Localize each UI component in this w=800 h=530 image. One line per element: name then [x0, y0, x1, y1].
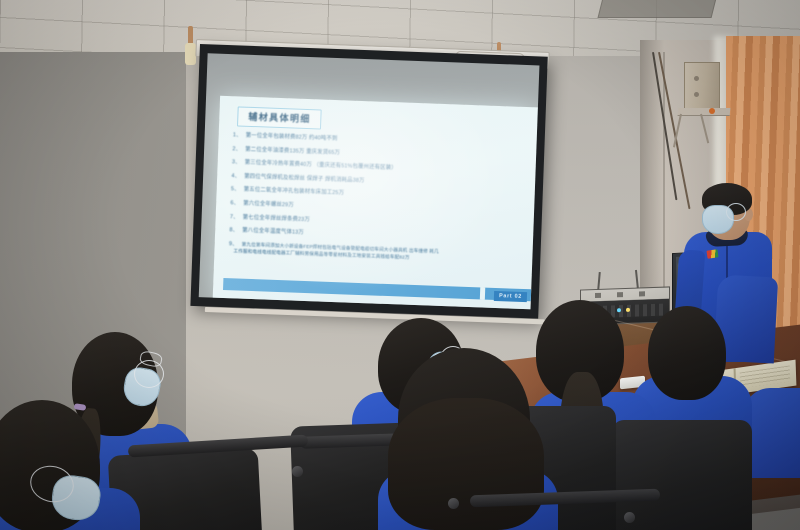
projected-slide: 辅材具体明细 1、 第一位全年包装材费82万 约40吨不到 2、 第二位全年油漆…: [212, 96, 537, 310]
speaker-shelf: [678, 108, 731, 116]
slide-footer-notch: [480, 287, 485, 299]
amplifier-buttons: [595, 293, 601, 298]
slide-line-number: 8、: [229, 227, 238, 234]
slide-line-number: 3、: [232, 159, 241, 166]
slide-title: 辅材具体明细: [248, 110, 311, 125]
wall-speaker: [684, 62, 720, 112]
ceiling-vent: [598, 0, 717, 18]
presenter-mask-strap: [726, 203, 746, 221]
slide-line-text: 第三位全年冷热年置费40万 （重庆还有51%包覆州还有区装）: [245, 160, 397, 172]
projection-screen: 辅材具体明细 1、 第一位全年包装材费82万 约40吨不到 2、 第二位全年油漆…: [190, 44, 547, 319]
slide-content: 辅材具体明细 1、 第一位全年包装材费82万 约40吨不到 2、 第二位全年油漆…: [212, 96, 537, 310]
slide-title-box: 辅材具体明细: [237, 106, 322, 129]
slide-line-number: 6、: [230, 200, 239, 207]
slide-line-text: 第六位全年螺丝29万: [243, 201, 294, 209]
slide-line-number: 5、: [231, 187, 240, 194]
chair-adjust-knob: [624, 512, 635, 523]
chair-adjust-knob: [448, 498, 459, 509]
slide-line-number: 9、: [229, 241, 238, 248]
slide-line-text: 第八位全年温度气体13万: [242, 228, 304, 236]
audience-member-6-head: [648, 306, 726, 400]
screen-surface: 辅材具体明细 1、 第一位全年包装材费82万 约40吨不到 2、 第二位全年油漆…: [199, 53, 540, 309]
speaker-indicator-icon: [709, 108, 715, 114]
chair-adjust-knob: [292, 466, 303, 477]
audience-member-far-right-front: [744, 388, 800, 478]
slide-line-number: 1、: [233, 132, 242, 139]
flag-pin-icon: [706, 249, 718, 258]
slide-line-number: 4、: [231, 173, 240, 180]
slide-line-text: 第一位全年包装材费82万 约40吨不到: [246, 133, 338, 143]
slide-line-number: 2、: [232, 146, 241, 153]
slide-part-badge: Part 02: [494, 291, 527, 302]
notebook-ruled-lines: [740, 365, 791, 388]
audience-member-4-hair: [388, 398, 544, 530]
slide-line-number: 7、: [230, 214, 239, 221]
conference-room-photo: ELECTRIC SCREEN 辅材具体明细 1、 第一位全年包装材费82万 约…: [0, 0, 800, 530]
screen-mount-left: [188, 26, 193, 46]
slide-line-text: 第四位气保焊机及松焊丝 保焊子 焊机消耗品38万: [244, 173, 365, 184]
slide-line-text: 第七位全年焊丝焊条费23万: [243, 214, 310, 223]
slide-line-text: 第二位全年油漆费135万 重庆发货65万: [245, 146, 340, 156]
slide-line-text: 第五位二氧全年冲孔包装材车床加工25万: [244, 187, 345, 197]
slide-body: 1、 第一位全年包装材费82万 约40吨不到 2、 第二位全年油漆费135万 重…: [228, 132, 527, 271]
